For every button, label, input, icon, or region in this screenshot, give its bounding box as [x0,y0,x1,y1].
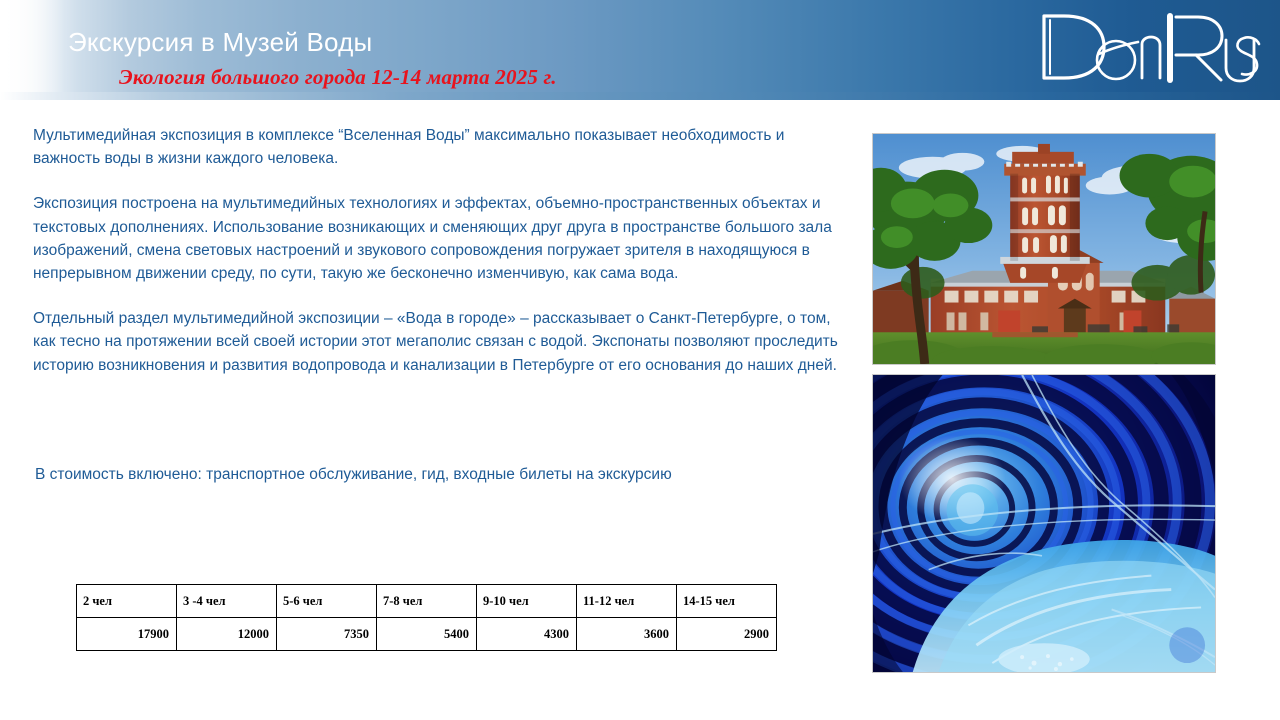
table-header-cell: 14-15 чел [677,585,777,618]
table-price-cell: 12000 [177,618,277,651]
blue-tunnel-photo [872,374,1216,673]
denrus-logo [1030,6,1262,90]
event-subtitle: Экология большого города 12-14 марта 202… [119,64,557,90]
main-text-block: Мультимедийная экспозиция в комплексе “В… [33,124,848,377]
table-price-cell: 5400 [377,618,477,651]
table-row: 17900 12000 7350 5400 4300 3600 2900 [77,618,777,651]
paragraph-2: Экспозиция построена на мультимедийных т… [33,192,848,285]
table-header-cell: 7-8 чел [377,585,477,618]
table-price-cell: 4300 [477,618,577,651]
table-header-row: 2 чел 3 -4 чел 5-6 чел 7-8 чел 9-10 чел … [77,585,777,618]
paragraph-1: Мультимедийная экспозиция в комплексе “В… [33,124,848,170]
table-header-cell: 5-6 чел [277,585,377,618]
table-header-cell: 9-10 чел [477,585,577,618]
header-banner: Экскурсия в Музей Воды Экология большого… [0,0,1280,100]
table-header-cell: 3 -4 чел [177,585,277,618]
header-light-gradient [0,0,64,100]
table-header-cell: 2 чел [77,585,177,618]
price-table: 2 чел 3 -4 чел 5-6 чел 7-8 чел 9-10 чел … [76,584,777,651]
page-title: Экскурсия в Музей Воды [68,26,372,58]
header-bottom-strip [0,92,1280,100]
included-services-note: В стоимость включено: транспортное обслу… [35,463,845,486]
table-price-cell: 2900 [677,618,777,651]
table-header-cell: 11-12 чел [577,585,677,618]
table-price-cell: 3600 [577,618,677,651]
table-price-cell: 7350 [277,618,377,651]
table-price-cell: 17900 [77,618,177,651]
water-tower-museum-photo [872,133,1216,365]
paragraph-3: Отдельный раздел мультимедийной экспозиц… [33,307,848,377]
